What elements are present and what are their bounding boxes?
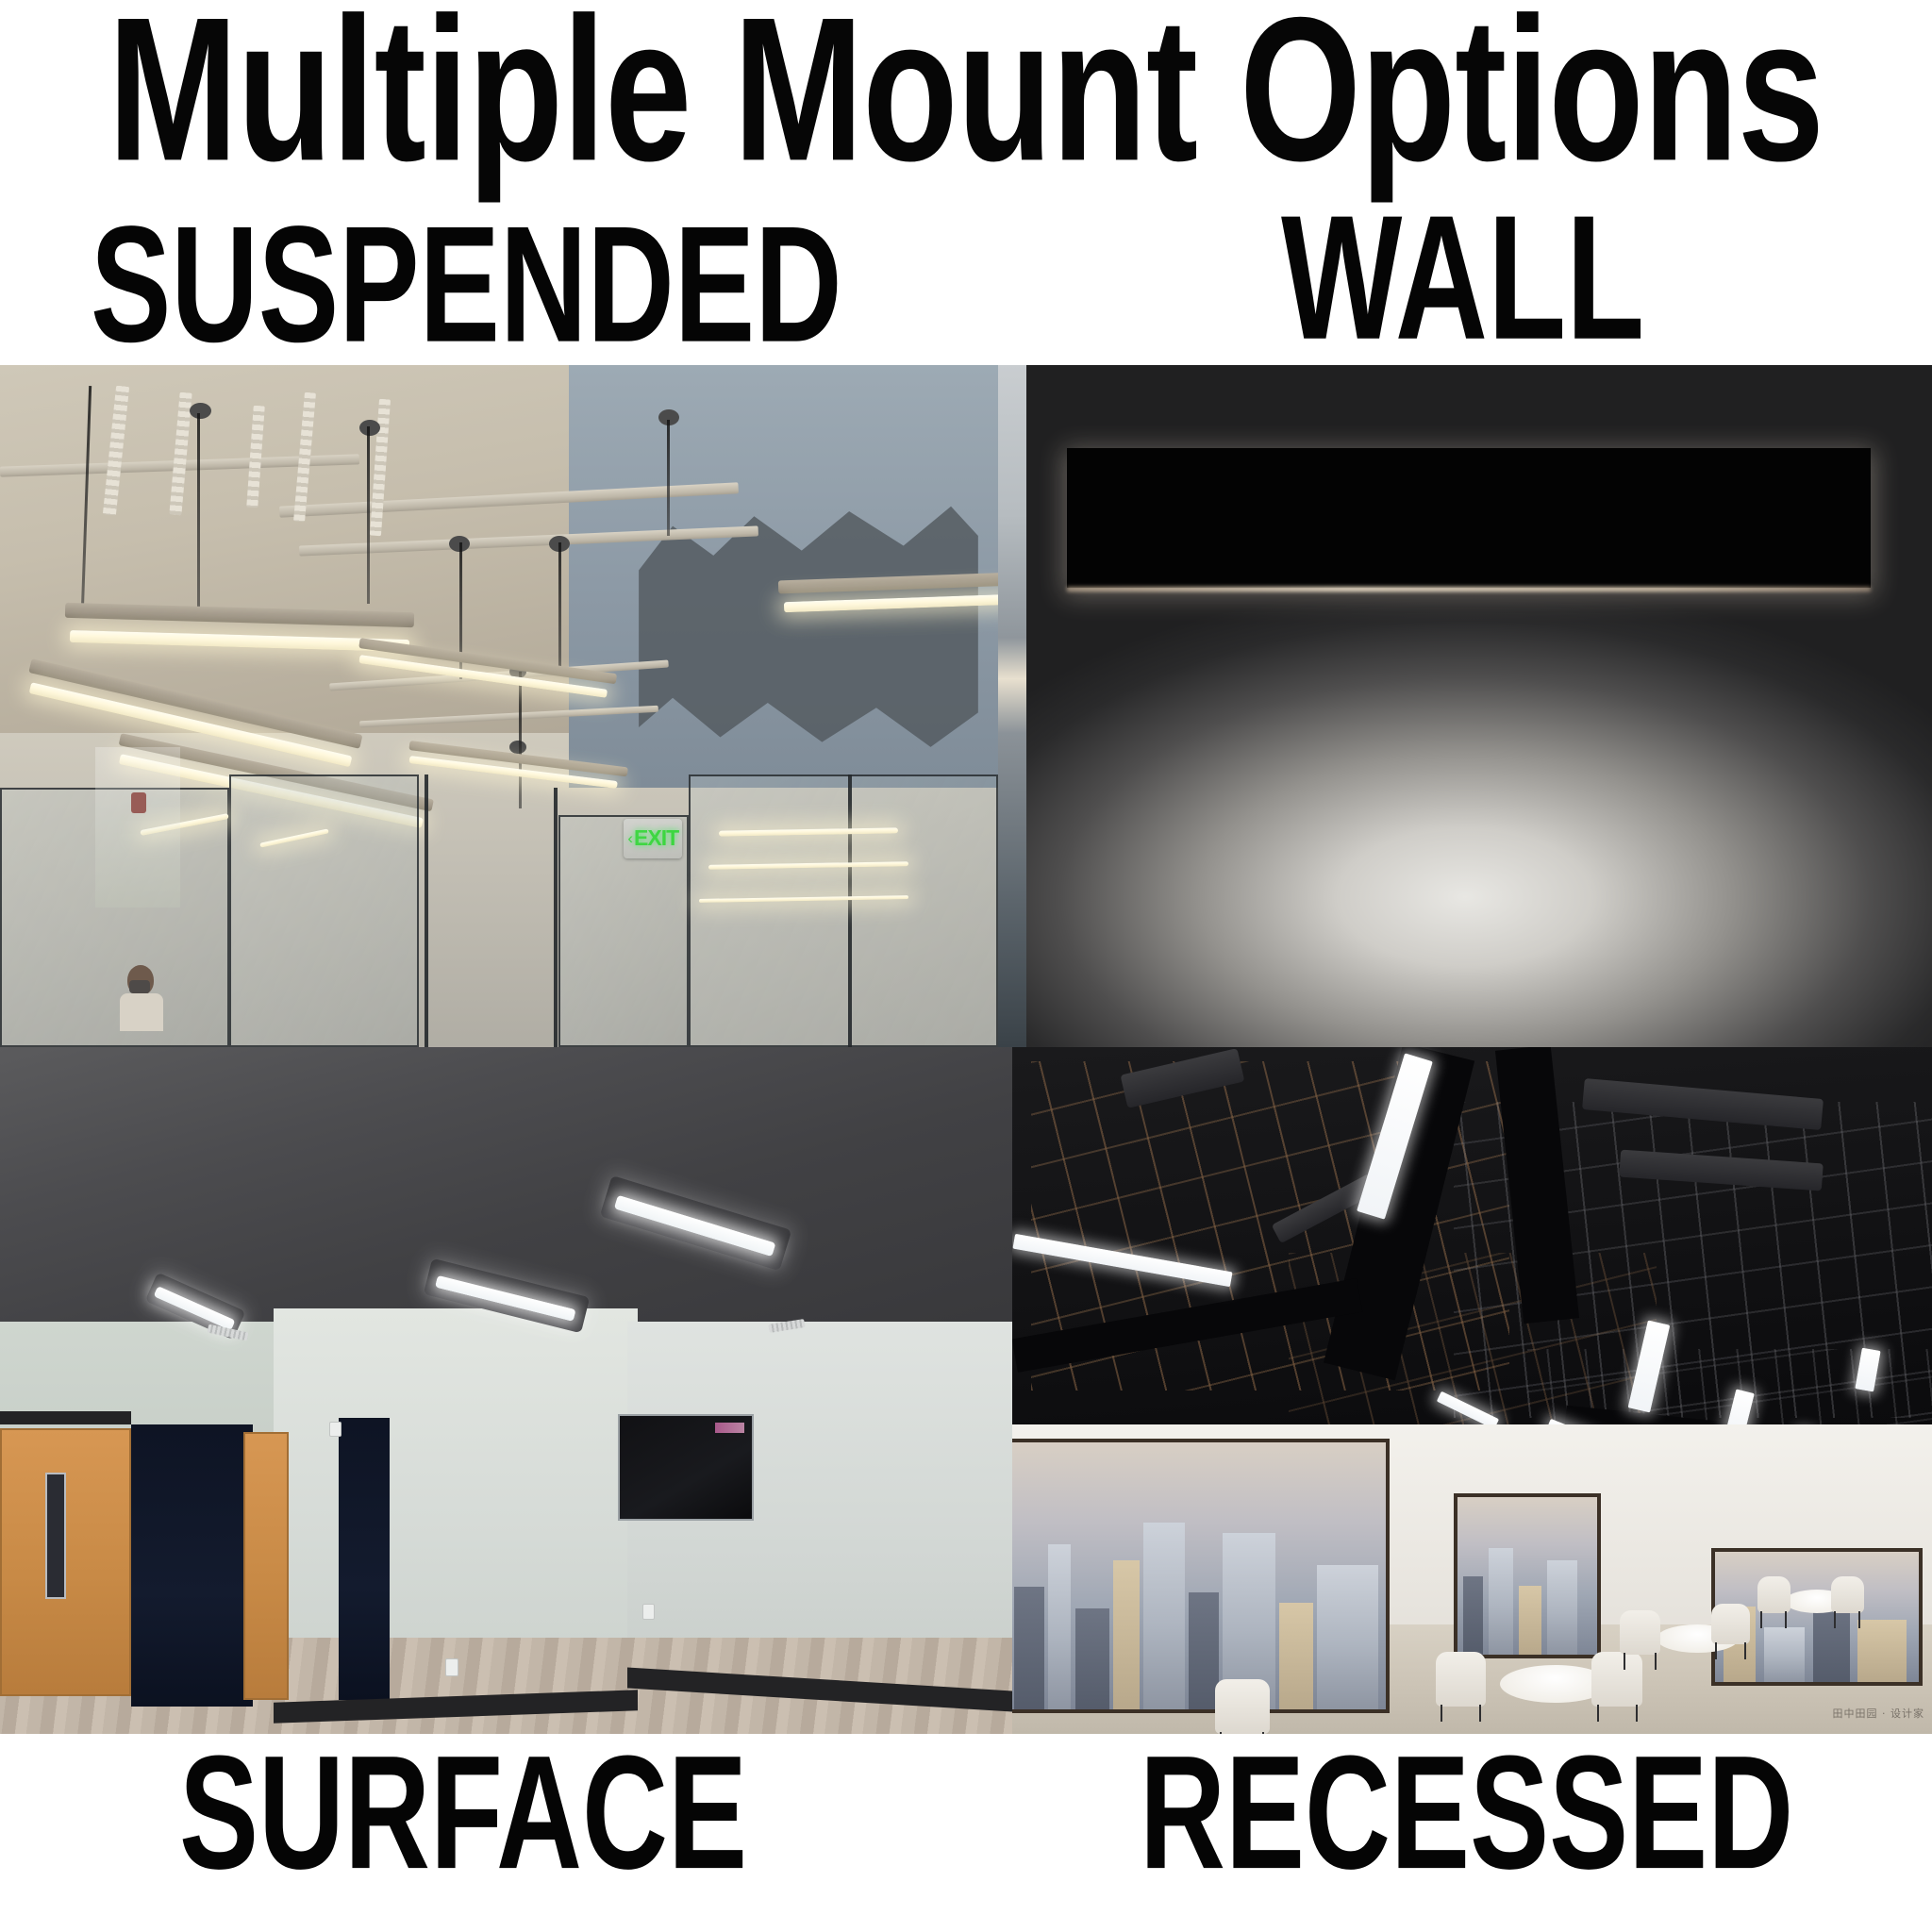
wall-mounted-tv <box>618 1414 755 1521</box>
skyline-building <box>1463 1576 1483 1655</box>
skyline-building <box>1279 1603 1313 1709</box>
light-switch <box>329 1422 341 1437</box>
door-vision-panel <box>45 1473 66 1599</box>
film-accent <box>131 792 146 813</box>
skyline-building <box>1317 1565 1377 1709</box>
face-mask <box>129 980 150 993</box>
dark-door-frame <box>339 1418 390 1699</box>
skyline-building <box>1014 1587 1044 1709</box>
chair-leg <box>1858 1611 1860 1628</box>
chair-leg <box>1744 1642 1746 1659</box>
quadrant-label-wall: WALL <box>1281 189 1644 366</box>
chair-leg <box>1760 1611 1762 1628</box>
chair-leg <box>1785 1611 1787 1628</box>
glass-partition <box>558 815 689 1047</box>
wood-door-left <box>0 1428 131 1696</box>
dining-chair <box>1831 1576 1864 1613</box>
skyline-building <box>1857 1620 1907 1682</box>
wall-trim <box>0 1411 131 1425</box>
chair-leg <box>1441 1705 1442 1722</box>
ceiling-anchor-disc <box>509 741 526 754</box>
chair-leg <box>1636 1705 1638 1722</box>
partition-mullion <box>554 788 558 1047</box>
wall-mounted-linear-fixture <box>1067 448 1870 588</box>
photo-surface-mount <box>0 1047 1012 1734</box>
skyline-building <box>1547 1560 1578 1655</box>
person-body <box>120 993 163 1031</box>
skyline-building <box>1489 1548 1514 1655</box>
skyline-building <box>1113 1560 1140 1710</box>
chair-leg <box>1834 1611 1836 1628</box>
dining-chair <box>1757 1576 1790 1613</box>
window-city-view-mid <box>1454 1493 1601 1658</box>
wall-outlet <box>642 1604 655 1620</box>
quadrant-label-recessed: RECESSED <box>1140 1732 1793 1893</box>
tv-reflection <box>715 1423 744 1433</box>
skyline-building <box>1048 1544 1071 1710</box>
dining-chair <box>1620 1610 1661 1655</box>
suspension-cable <box>667 420 670 536</box>
suspension-cable <box>519 672 522 808</box>
skyline-building <box>1764 1627 1805 1682</box>
glass-partition <box>689 774 998 1047</box>
page-title: Multiple Mount Options <box>108 0 1824 192</box>
partition-mullion <box>425 774 428 1047</box>
chair-leg <box>1479 1705 1481 1722</box>
suspension-cable <box>558 542 561 672</box>
photo-recessed-mount: 田中田园 · 设计家 <box>1012 1047 1932 1734</box>
person-figure <box>120 965 163 1031</box>
wood-door-right <box>243 1432 289 1700</box>
skyline-building <box>1519 1586 1541 1655</box>
dining-chair <box>1591 1652 1642 1707</box>
chair-leg <box>1655 1653 1657 1670</box>
decorative-glass-film <box>95 747 180 908</box>
photo-wall-mount <box>998 365 1932 1047</box>
glass-partition <box>229 774 419 1047</box>
partition-mullion <box>848 774 852 1047</box>
dining-chair <box>1711 1604 1750 1645</box>
page-header: Multiple Mount Options <box>0 0 1932 179</box>
adjacent-corridor-sliver <box>998 365 1026 1047</box>
skyline-building <box>1075 1608 1109 1710</box>
chair-leg <box>1597 1705 1599 1722</box>
dining-chair <box>1436 1652 1487 1707</box>
window-city-view-left <box>1012 1439 1390 1713</box>
dark-doorway <box>131 1424 253 1706</box>
chair-leg <box>1715 1642 1717 1659</box>
suspension-cable <box>367 426 370 604</box>
skyline-building <box>1143 1523 1185 1709</box>
photo-watermark: 田中田园 · 设计家 <box>1833 1706 1925 1721</box>
quadrant-label-suspended: SUSPENDED <box>91 203 842 368</box>
ceiling-anchor-disc <box>190 403 211 419</box>
chair-leg <box>1624 1653 1625 1670</box>
suspension-cable <box>197 413 200 618</box>
mount-options-photo-grid: ‹ EXIT <box>0 365 1932 1734</box>
quadrant-label-surface: SURFACE <box>179 1732 747 1893</box>
wall-outlet <box>445 1658 458 1676</box>
photo-suspended-mount: ‹ EXIT <box>0 365 998 1047</box>
